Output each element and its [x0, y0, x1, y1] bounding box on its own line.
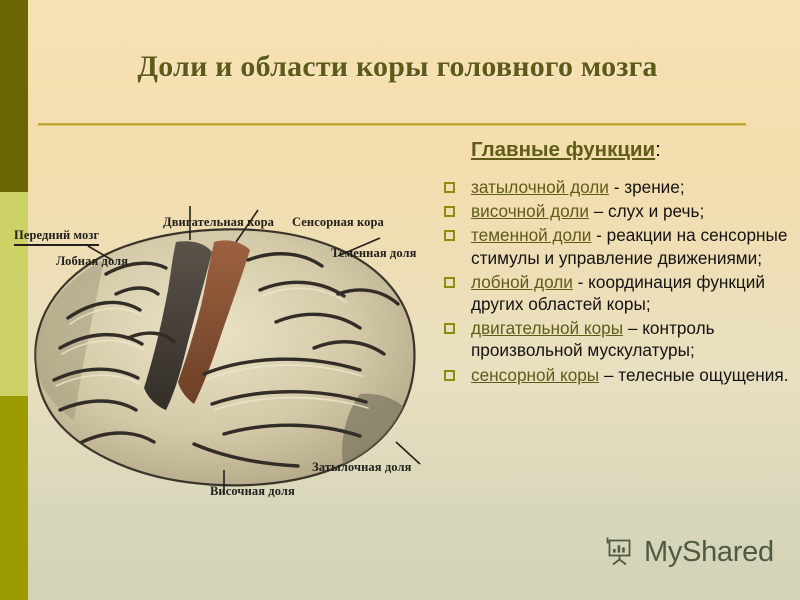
- square-bullet-icon: [444, 230, 455, 241]
- list-item-term: двигательной коры: [471, 318, 623, 338]
- content-heading-highlight: Главные функции: [471, 138, 655, 161]
- figure-label-dvigatelnaya-kora: Двигательная кора: [163, 215, 274, 230]
- slide-canvas: Доли и области коры головного мозга: [0, 0, 800, 600]
- functions-list: затылочной доли - зрение; височной доли …: [437, 176, 789, 386]
- sidebar-stripe-top: [0, 0, 28, 192]
- list-item: сенсорной коры – телесные ощущения.: [437, 364, 789, 386]
- list-item-term: затылочной доли: [471, 177, 609, 197]
- figure-label-perednii-mozg: Передний мозг: [14, 228, 99, 246]
- figure-label-zatylochnaya-dolya: Затылочная доля: [312, 460, 411, 475]
- list-item-term: височной доли: [471, 201, 589, 221]
- list-item: лобной доли - координация функций других…: [437, 271, 789, 315]
- square-bullet-icon: [444, 370, 455, 381]
- list-item-term: теменной доли: [471, 225, 591, 245]
- list-item: височной доли – слух и речь;: [437, 200, 789, 222]
- figure-label-visochnaya-dolya: Височная доля: [210, 484, 295, 499]
- list-item-text: – телесные ощущения.: [599, 365, 788, 385]
- square-bullet-icon: [444, 182, 455, 193]
- list-item-term: сенсорной коры: [471, 365, 599, 385]
- content-column: Главные функции: затылочной доли - зрени…: [437, 138, 789, 388]
- list-item: двигательной коры – контроль произвольно…: [437, 317, 789, 361]
- content-heading: Главные функции:: [471, 138, 789, 162]
- content-heading-suffix: :: [655, 138, 661, 161]
- square-bullet-icon: [444, 277, 455, 288]
- square-bullet-icon: [444, 206, 455, 217]
- list-item-term: лобной доли: [471, 272, 573, 292]
- myshared-watermark: MyShared: [603, 533, 774, 572]
- list-item: теменной доли - реакции на сенсорные сти…: [437, 224, 789, 268]
- myshared-label: MyShared: [644, 536, 774, 569]
- figure-label-lobnaya-dolya: Лобная доля: [56, 254, 128, 269]
- title-divider: [38, 123, 746, 126]
- list-item-text: - зрение;: [609, 177, 685, 197]
- list-item: затылочной доли - зрение;: [437, 176, 789, 198]
- list-item-text: – слух и речь;: [589, 201, 704, 221]
- page-title: Доли и области коры головного мозга: [40, 50, 755, 84]
- square-bullet-icon: [444, 323, 455, 334]
- figure-label-temennaya-dolya: Теменная доля: [331, 246, 417, 261]
- figure-label-sensornaya-kora: Сенсорная кора: [292, 215, 384, 230]
- presentation-board-icon: [603, 533, 637, 572]
